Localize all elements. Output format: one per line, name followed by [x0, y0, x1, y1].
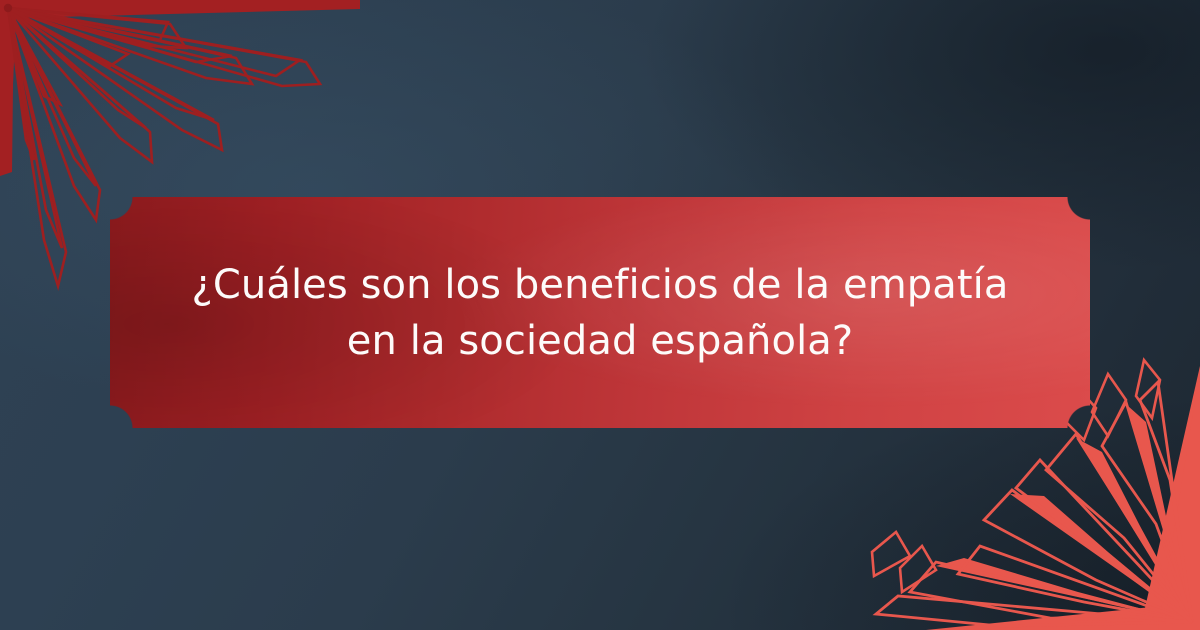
- og-question-card: ¿Cuáles son los beneficios de la empatía…: [0, 0, 1200, 630]
- question-text: ¿Cuáles son los beneficios de la empatía…: [110, 257, 1090, 369]
- question-card: ¿Cuáles son los beneficios de la empatía…: [110, 197, 1090, 428]
